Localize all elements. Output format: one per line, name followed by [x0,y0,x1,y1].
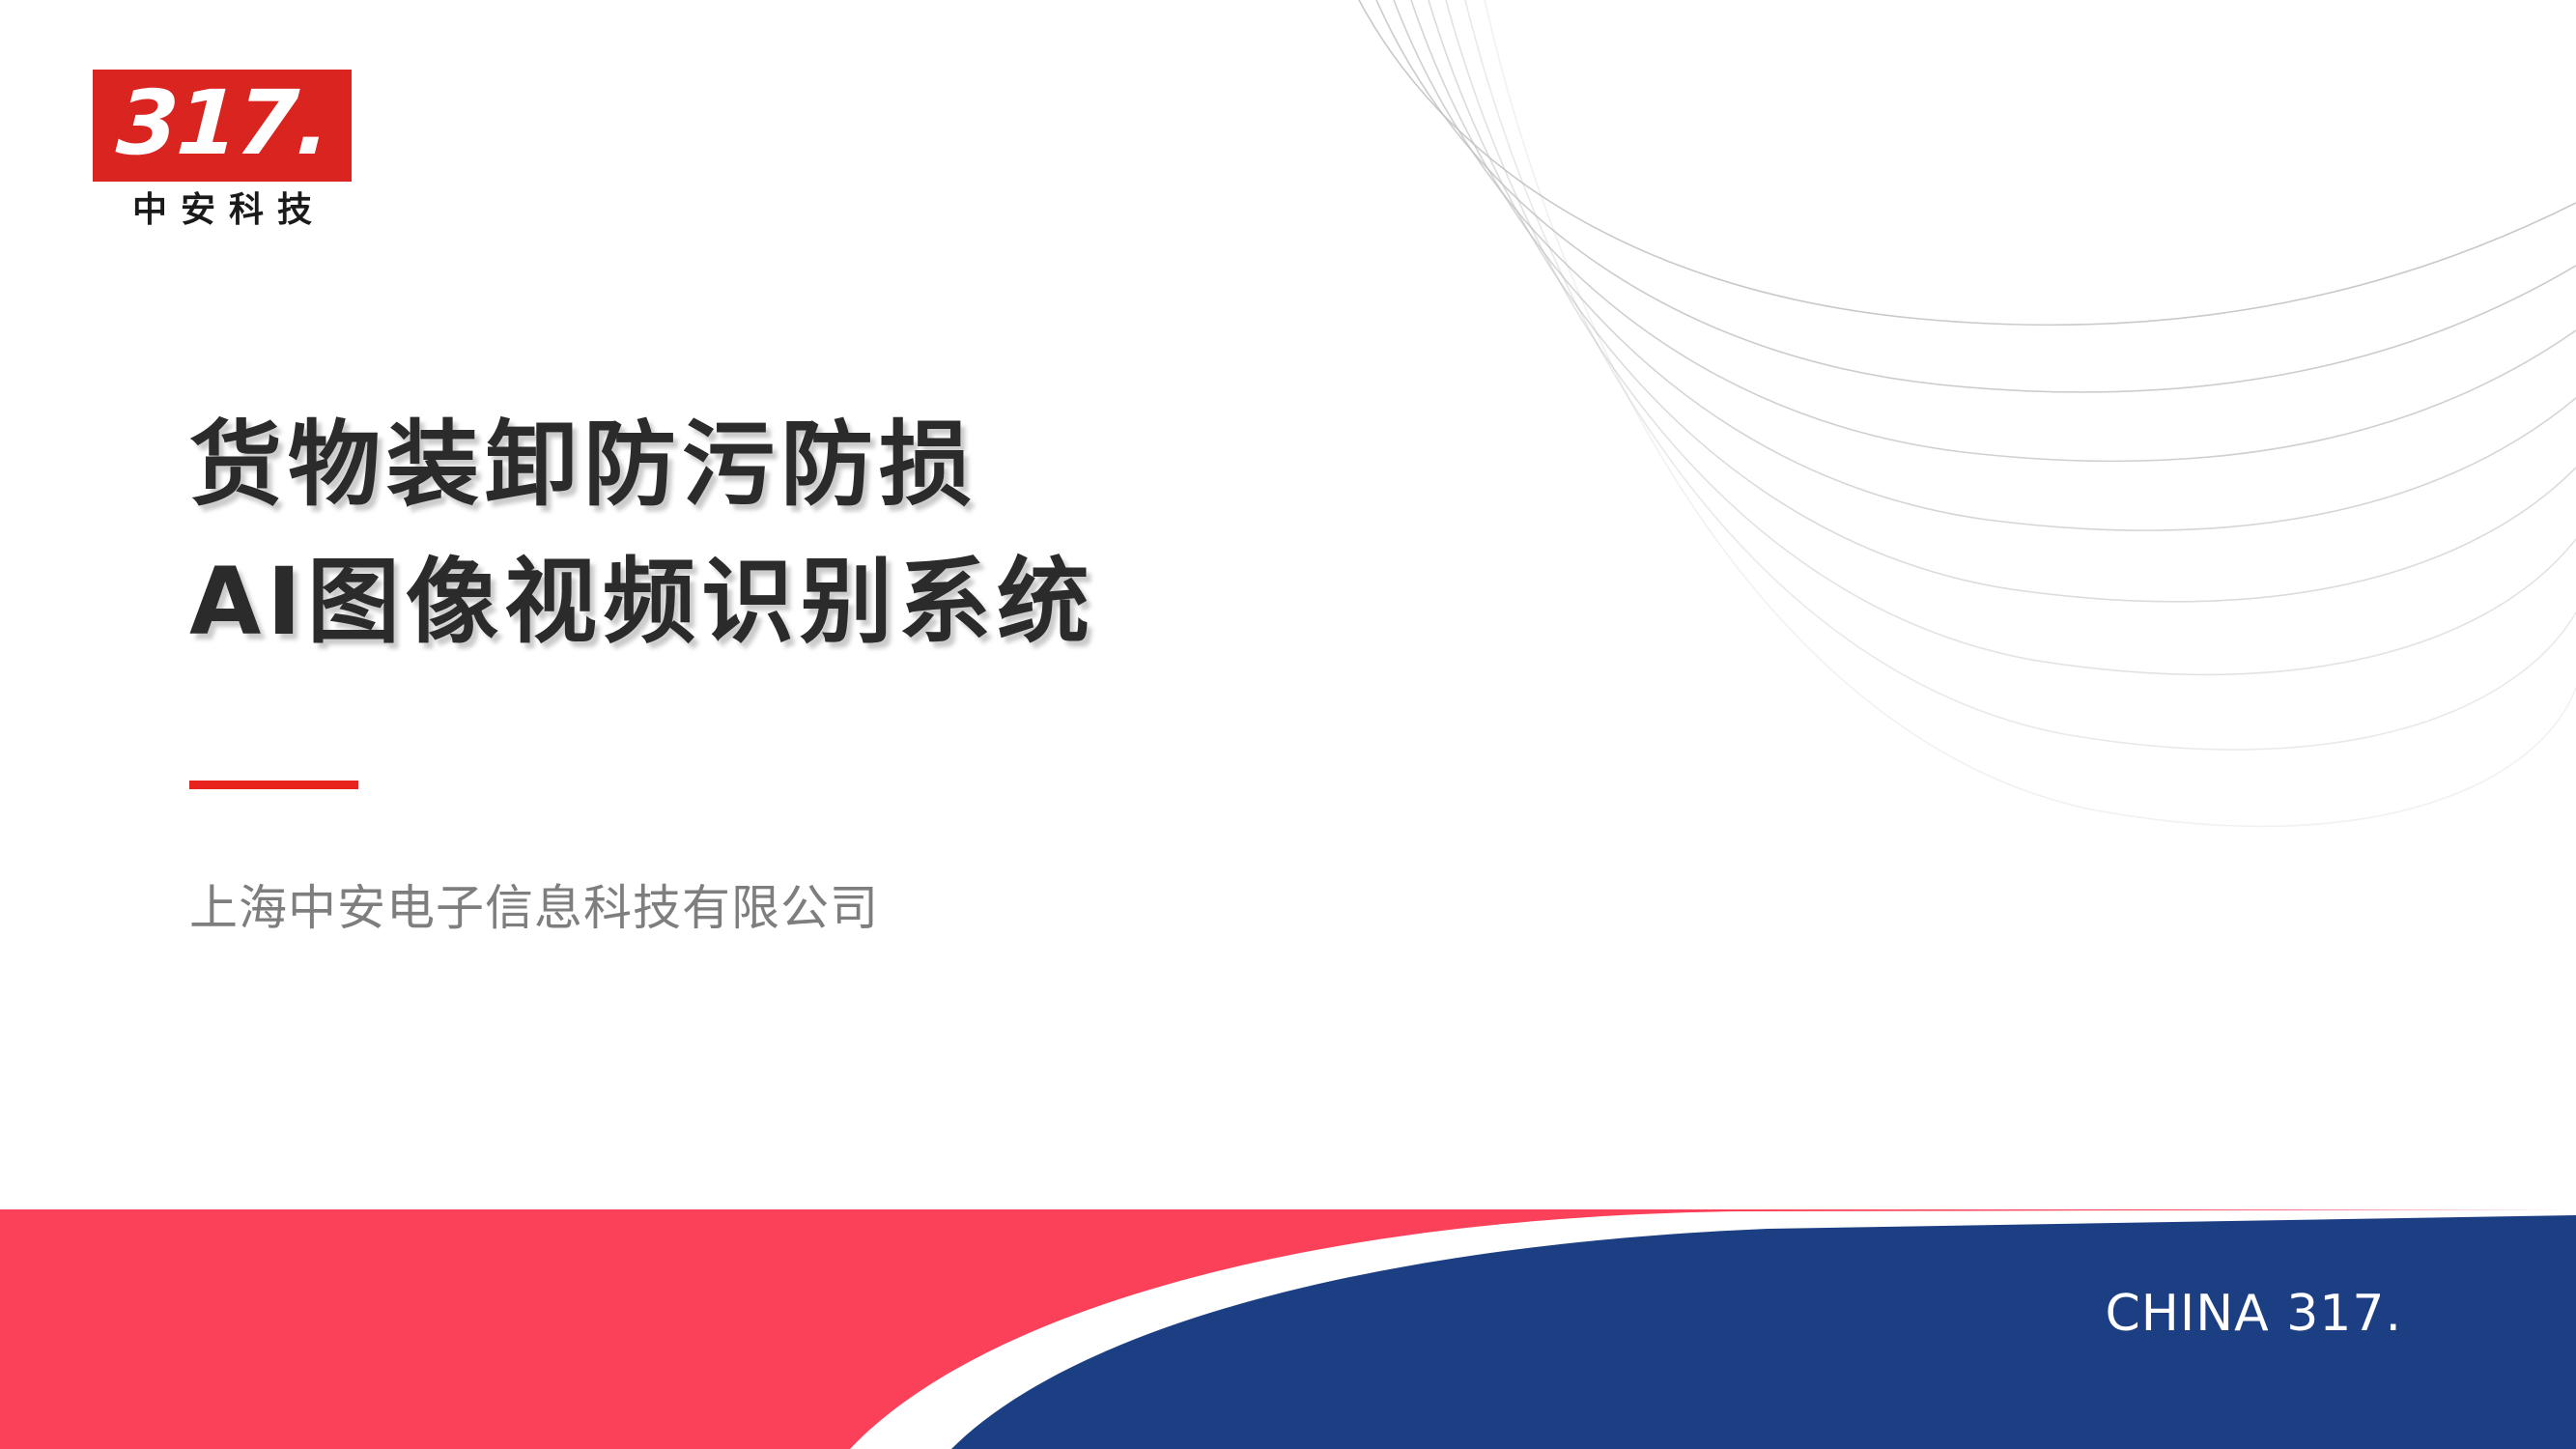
company-logo: 317. 中安科技 [93,70,352,230]
bottom-banner: CHINA 317. [0,1209,2576,1449]
title-line-1: 货物装卸防污防损 [189,396,1445,533]
slide-canvas: 317. 中安科技 货物装卸防污防损 AI图像视频识别系统 上海中安电子信息科技… [0,0,2576,1449]
logo-mark-317: 317. [93,70,352,182]
page-title: 货物装卸防污防损 AI图像视频识别系统 [189,396,1445,670]
banner-brand-label: CHINA 317. [2105,1285,2402,1343]
subtitle-company-name: 上海中安电子信息科技有限公司 [189,877,879,940]
red-divider-rule [189,781,358,789]
logo-subtext: 中安科技 [93,191,352,230]
curved-lines-decoration [1320,0,2576,831]
title-line-2: AI图像视频识别系统 [189,533,1445,670]
logo-mark-text: 317. [114,79,330,168]
